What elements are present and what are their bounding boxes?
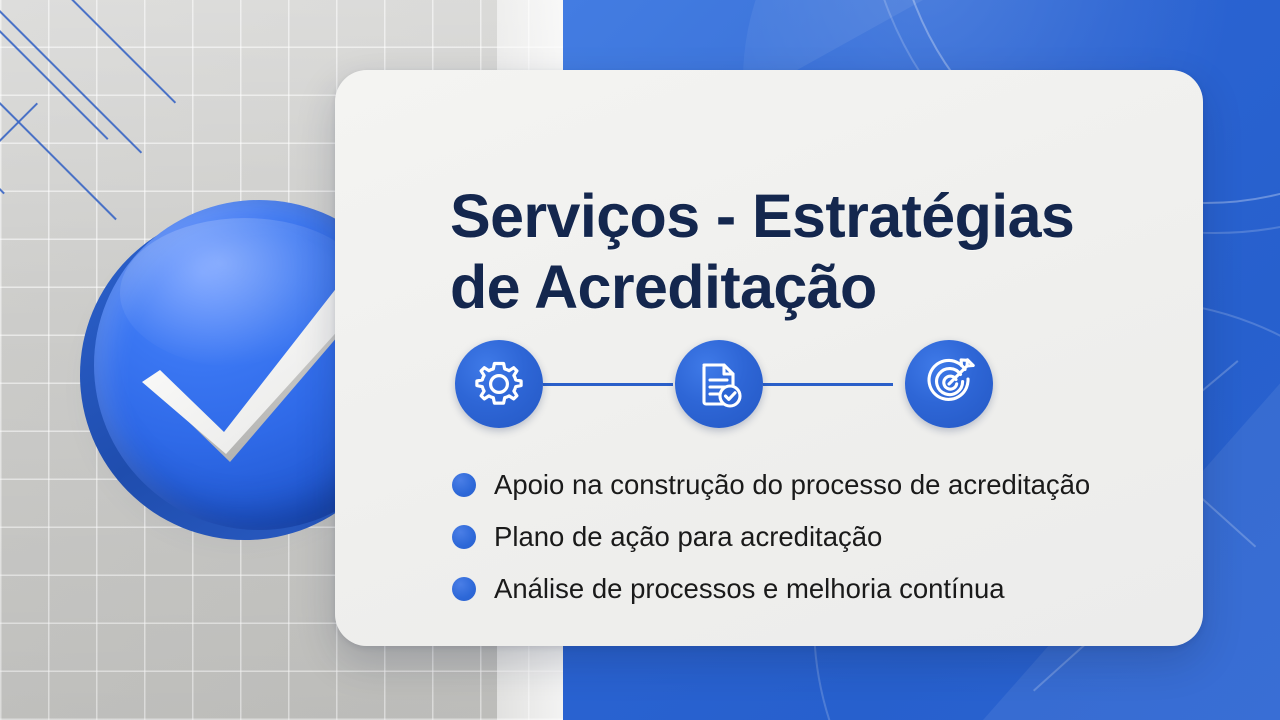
slide-canvas: Serviços - Estratégias de Acreditação: [0, 0, 1280, 720]
list-item: Plano de ação para acreditação: [452, 512, 1172, 562]
gear-icon-glyph: [472, 357, 526, 411]
connector-line-2: [763, 383, 893, 386]
bullet-dot-icon: [452, 525, 476, 549]
process-icon-row: [455, 340, 993, 428]
page-title: Serviços - Estratégias de Acreditação: [450, 181, 1170, 323]
target-arrow-icon-glyph: [922, 357, 976, 411]
gear-icon[interactable]: [455, 340, 543, 428]
bullet-dot-icon: [452, 577, 476, 601]
bullet-text: Apoio na construção do processo de acred…: [494, 468, 1090, 502]
list-item: Apoio na construção do processo de acred…: [452, 460, 1172, 510]
bullet-dot-icon: [452, 473, 476, 497]
document-check-icon[interactable]: [675, 340, 763, 428]
bullet-list: Apoio na construção do processo de acred…: [452, 460, 1172, 616]
target-arrow-icon[interactable]: [905, 340, 993, 428]
bullet-text: Plano de ação para acreditação: [494, 520, 882, 554]
bullet-text: Análise de processos e melhoria contínua: [494, 572, 1005, 606]
connector-line-1: [543, 383, 673, 386]
list-item: Análise de processos e melhoria contínua: [452, 564, 1172, 614]
document-check-icon-glyph: [693, 358, 745, 410]
